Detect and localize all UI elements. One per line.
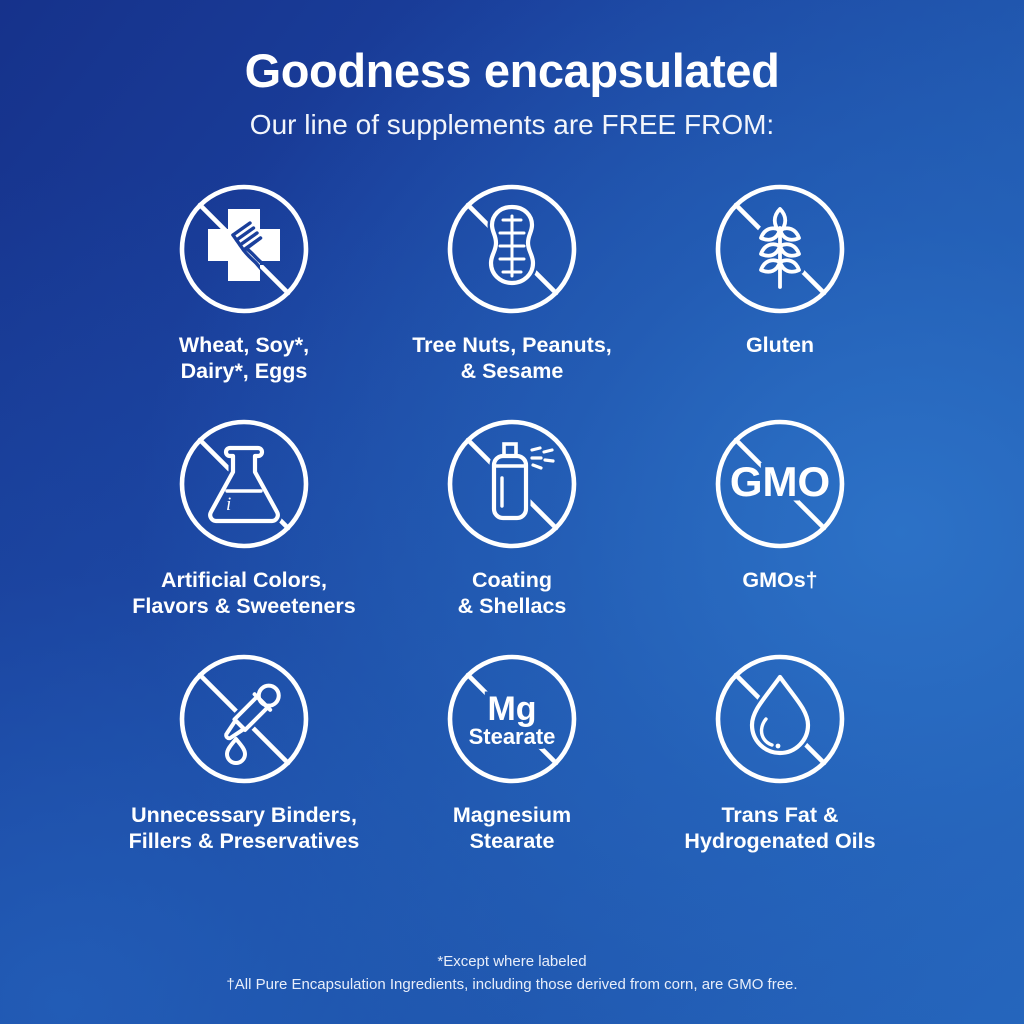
no-allergen-cross-fork-icon (178, 183, 310, 315)
grid-item-magnesium-stearate: Mg Stearate Mg Stearate Magnesium Steara… (378, 653, 646, 888)
grid-item-unnecessary-binders-fillers-preservatives: Unnecessary Binders, Fillers & Preservat… (110, 653, 378, 888)
grid-item-gluten: Gluten (646, 183, 914, 418)
footnote-asterisk: *Except where labeled (0, 951, 1024, 974)
grid-item-label: Artificial Colors, Flavors & Sweeteners (132, 567, 355, 619)
grid-item-label: Unnecessary Binders, Fillers & Preservat… (129, 802, 360, 854)
page-subtitle: Our line of supplements are FREE FROM: (0, 110, 1024, 141)
no-flask-icon: i (178, 418, 310, 550)
grid-item-label: Coating & Shellacs (458, 567, 567, 619)
mg-icon-text-secondary: Stearate (469, 724, 556, 749)
grid-item-wheat-soy-dairy-eggs: Wheat, Soy*, Dairy*, Eggs (110, 183, 378, 418)
header: Goodness encapsulated Our line of supple… (0, 0, 1024, 141)
grid-item-tree-nuts-peanuts-sesame: Tree Nuts, Peanuts, & Sesame (378, 183, 646, 418)
grid-item-label: Wheat, Soy*, Dairy*, Eggs (179, 332, 309, 384)
gmo-icon-text: GMO (730, 458, 830, 505)
grid-item-label: GMOs† (742, 567, 817, 593)
grid-item-gmos: GMO GMO GMOs† (646, 418, 914, 653)
page-title: Goodness encapsulated (0, 46, 1024, 96)
footnote-dagger: †All Pure Encapsulation Ingredients, inc… (0, 974, 1024, 997)
no-peanut-icon (446, 183, 578, 315)
grid-item-artificial-colors-flavors-sweeteners: i Artificial Colors, Flavors & Sweetener… (110, 418, 378, 653)
footnotes: *Except where labeled †All Pure Encapsul… (0, 951, 1024, 996)
grid-item-label: Magnesium Stearate (453, 802, 571, 854)
no-magnesium-stearate-icon: Mg Stearate Mg Stearate (446, 653, 578, 785)
no-wheat-stalk-icon (714, 183, 846, 315)
grid-item-trans-fat-hydrogenated-oils: Trans Fat & Hydrogenated Oils (646, 653, 914, 888)
grid-item-label: Trans Fat & Hydrogenated Oils (684, 802, 875, 854)
no-gmo-icon: GMO GMO (714, 418, 846, 550)
grid-item-label: Tree Nuts, Peanuts, & Sesame (412, 332, 612, 384)
free-from-grid: Wheat, Soy*, Dairy*, Eggs (0, 183, 1024, 888)
mg-icon-text-primary: Mg (487, 690, 536, 728)
infographic-poster: Goodness encapsulated Our line of supple… (0, 0, 1024, 1024)
no-oil-droplet-icon (714, 653, 846, 785)
no-dropper-icon (178, 653, 310, 785)
svg-text:i: i (226, 494, 231, 515)
no-spray-can-icon (446, 418, 578, 550)
grid-item-coating-shellacs: Coating & Shellacs (378, 418, 646, 653)
grid-item-label: Gluten (746, 332, 814, 358)
